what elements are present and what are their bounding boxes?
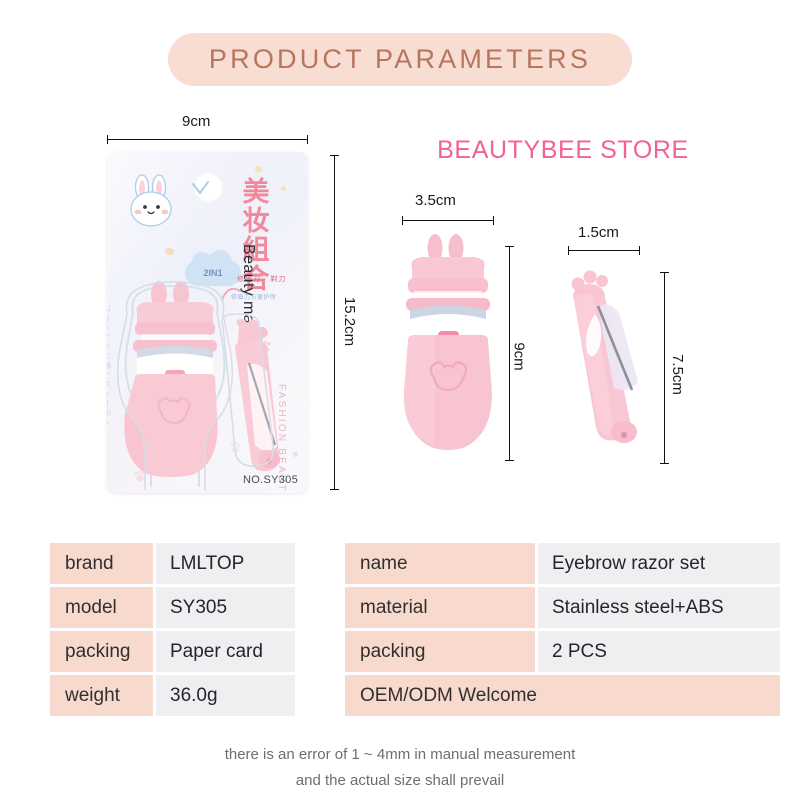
badge-2in1-label: 2IN1 bbox=[203, 268, 222, 278]
measurement-disclaimer: there is an error of 1 ~ 4mm in manual m… bbox=[0, 742, 800, 795]
spec-key: packing bbox=[345, 631, 535, 672]
spec-value: 2 PCS bbox=[538, 631, 780, 672]
confetti-dot bbox=[255, 166, 262, 173]
oem-odm-row: OEM/ODM Welcome bbox=[345, 675, 780, 716]
package-width-label: 9cm bbox=[182, 113, 210, 130]
table-row: weight 36.0g bbox=[50, 675, 295, 716]
table-row: material Stainless steel+ABS bbox=[345, 587, 780, 628]
folding-razor-height-label: 7.5cm bbox=[669, 354, 686, 395]
folding-razor-width-dimension-line bbox=[568, 250, 640, 251]
spec-key: brand bbox=[50, 543, 153, 584]
spec-value: SY305 bbox=[156, 587, 295, 628]
blister-card-package: 2IN1 美妆組合 修眉刀 · 剃刀 修眉刀方便护所 Beauty makeup… bbox=[107, 152, 308, 493]
disclaimer-line-2: and the actual size shall prevail bbox=[0, 768, 800, 794]
confetti-dot bbox=[165, 248, 174, 255]
package-height-dimension-line bbox=[334, 155, 335, 490]
table-row: model SY305 bbox=[50, 587, 295, 628]
spec-key: material bbox=[345, 587, 535, 628]
spec-value: LMLTOP bbox=[156, 543, 295, 584]
blister-plastic-shell bbox=[113, 268, 293, 490]
spec-key: name bbox=[345, 543, 535, 584]
product-folding-eyebrow-razor bbox=[562, 262, 650, 460]
page-title-banner: PRODUCT PARAMETERS bbox=[168, 33, 632, 86]
spec-key: packing bbox=[50, 631, 153, 672]
table-row: name Eyebrow razor set bbox=[345, 543, 780, 584]
check-decoration-icon bbox=[191, 180, 211, 198]
confetti-dot bbox=[293, 452, 298, 457]
folding-razor-width-label: 1.5cm bbox=[578, 224, 619, 241]
spec-key: weight bbox=[50, 675, 153, 716]
spec-value: Paper card bbox=[156, 631, 295, 672]
spec-table-right: name Eyebrow razor set material Stainles… bbox=[345, 543, 780, 716]
page-title: PRODUCT PARAMETERS bbox=[209, 44, 591, 75]
store-name: BEAUTYBEE STORE bbox=[418, 136, 708, 166]
package-width-dimension-line bbox=[107, 139, 308, 140]
razor-height-label: 9cm bbox=[511, 342, 528, 370]
table-row: packing 2 PCS bbox=[345, 631, 780, 672]
folding-razor-height-dimension-line bbox=[664, 272, 665, 464]
spec-value: Stainless steel+ABS bbox=[538, 587, 780, 628]
product-razor-handle bbox=[398, 232, 498, 460]
razor-width-dimension-line bbox=[402, 220, 494, 221]
razor-width-label: 3.5cm bbox=[415, 192, 456, 209]
bunny-illustration bbox=[123, 174, 181, 229]
confetti-dot bbox=[281, 186, 286, 191]
disclaimer-line-1: there is an error of 1 ~ 4mm in manual m… bbox=[0, 742, 800, 768]
product-parameters-page: PRODUCT PARAMETERS BEAUTYBEE STORE 9cm 1… bbox=[0, 0, 800, 800]
table-row: packing Paper card bbox=[50, 631, 295, 672]
spec-value: Eyebrow razor set bbox=[538, 543, 780, 584]
package-height-label: 15.2cm bbox=[341, 297, 358, 346]
package-model-number: NO.SY305 bbox=[243, 474, 298, 486]
spec-value: 36.0g bbox=[156, 675, 295, 716]
spec-key: model bbox=[50, 587, 153, 628]
spec-table-left: brand LMLTOP model SY305 packing Paper c… bbox=[50, 543, 295, 716]
table-row: brand LMLTOP bbox=[50, 543, 295, 584]
